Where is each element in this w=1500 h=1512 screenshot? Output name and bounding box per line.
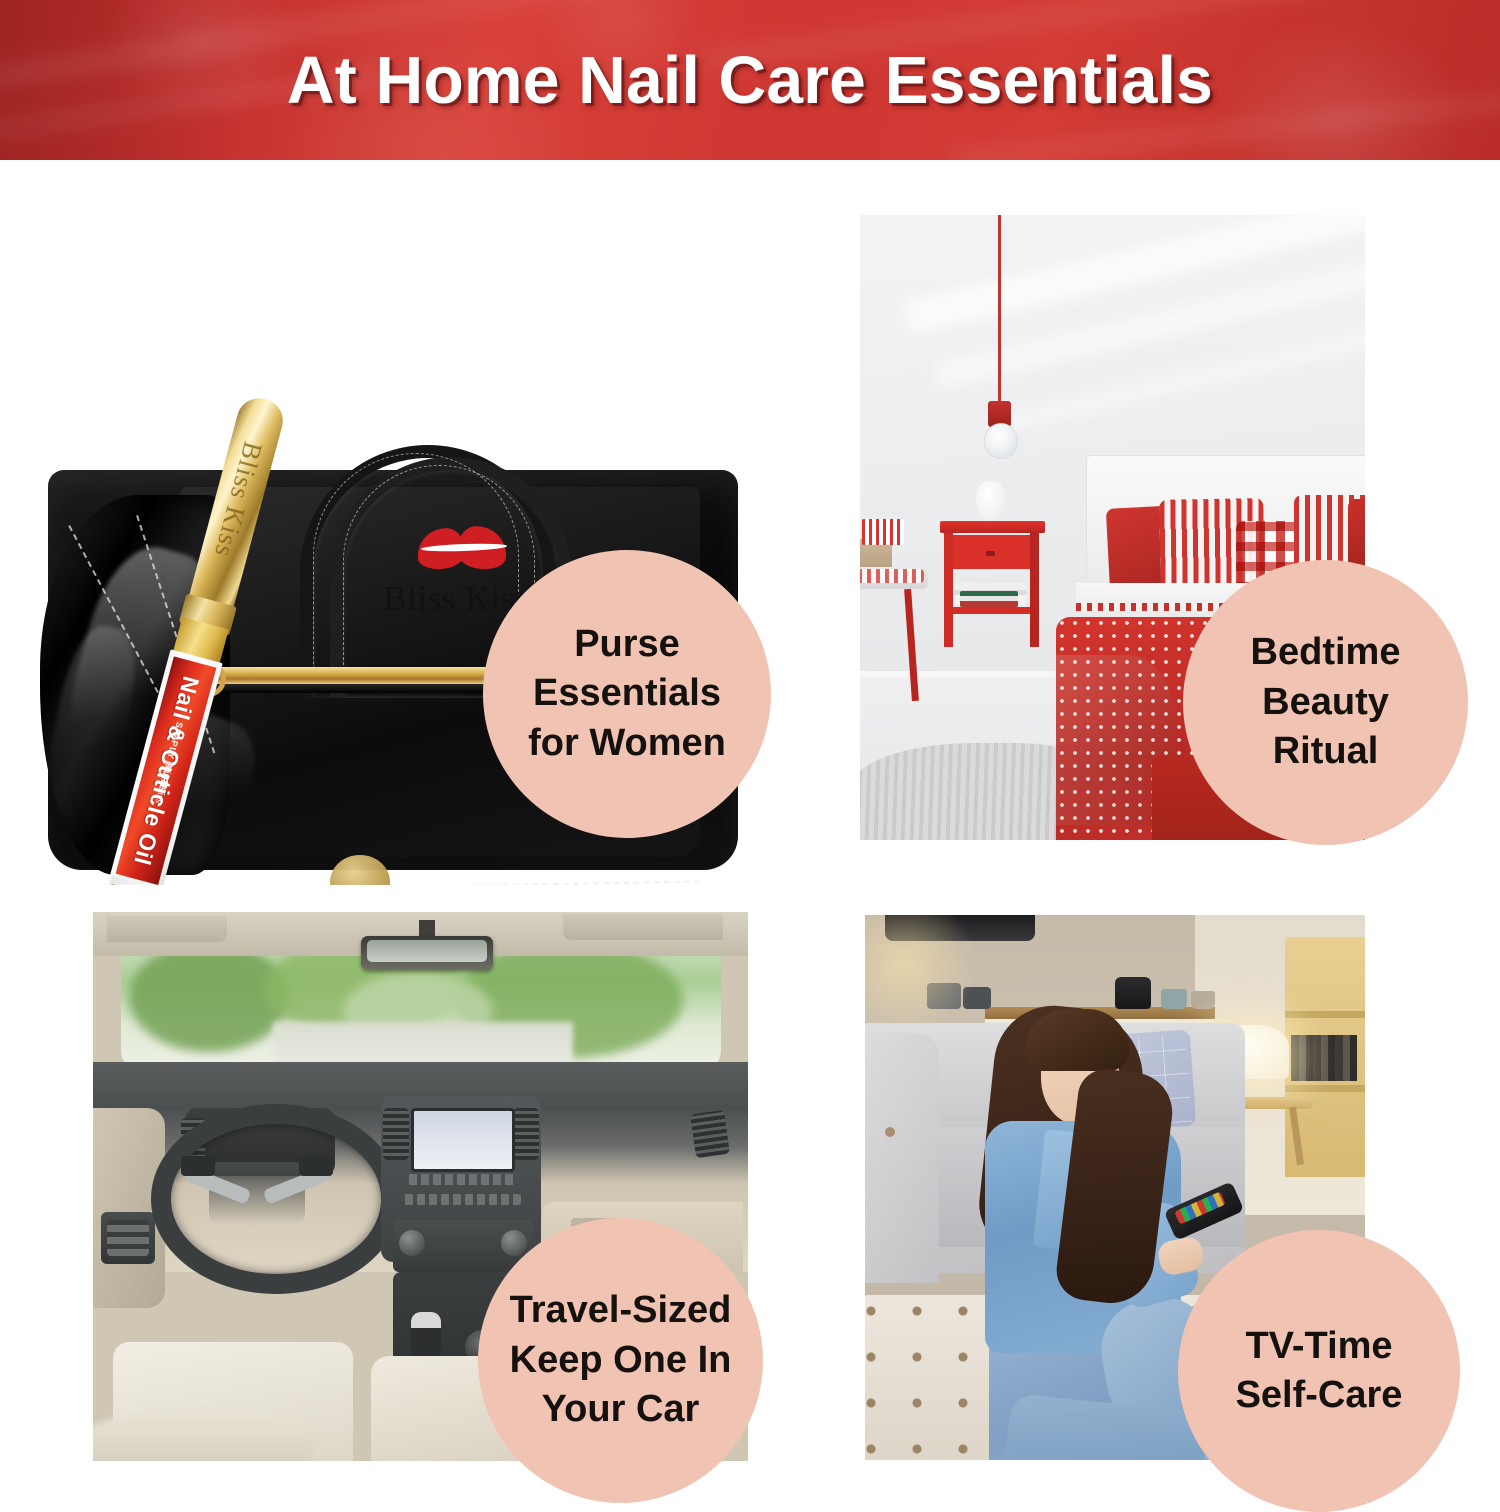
mirror-glass <box>367 940 487 962</box>
badge-line: Self-Care <box>1236 1371 1403 1420</box>
chair-cushion-pattern <box>860 569 924 583</box>
badge-bedroom: Bedtime Beauty Ritual <box>1183 560 1468 845</box>
chair-leg <box>904 589 919 701</box>
stitch-line <box>180 880 700 885</box>
badge-line: Ritual <box>1273 727 1379 776</box>
nightstand-top <box>940 521 1045 533</box>
sun-visor-left <box>107 916 227 942</box>
badge-purse: Purse Essentials for Women <box>483 550 771 838</box>
badge-line: Beauty <box>1262 678 1389 727</box>
seat-foreground <box>93 1412 313 1461</box>
chair-seat <box>860 567 928 589</box>
climate-knob <box>501 1230 527 1256</box>
air-vent <box>513 1108 539 1160</box>
air-vent <box>690 1110 730 1158</box>
shelf-board <box>1285 1011 1365 1018</box>
radio-buttons <box>405 1174 517 1185</box>
badge-line: Keep One In <box>510 1336 732 1385</box>
nightstand-leg <box>944 533 953 647</box>
badge-car: Travel-Sized Keep One In Your Car <box>478 1218 763 1503</box>
badge-line: Bedtime <box>1251 628 1401 677</box>
steering-buttons <box>181 1156 215 1176</box>
hair-fringe <box>1025 1009 1129 1071</box>
product-infographic: At Home Nail Care Essentials <box>0 0 1500 1500</box>
nightstand-shelf <box>944 607 1039 614</box>
badge-line: Purse <box>574 620 680 669</box>
window-switches <box>107 1220 149 1256</box>
pendant-lamp-bulb <box>984 423 1018 459</box>
climate-knob <box>399 1230 425 1256</box>
air-vent <box>383 1108 409 1160</box>
red-nightstand <box>940 521 1045 647</box>
nightstand-knob <box>986 551 995 556</box>
steering-buttons <box>299 1156 333 1176</box>
shelf-board <box>1285 1085 1365 1092</box>
pendant-lamp-cord <box>998 215 1001 403</box>
badge-livingroom: TV-Time Self-Care <box>1178 1230 1460 1512</box>
shelf-books <box>1291 1035 1357 1081</box>
woman-watching-tv <box>963 999 1213 1460</box>
red-lips-icon <box>417 525 509 573</box>
badge-line: for Women <box>528 719 726 768</box>
sun-visor-right <box>563 914 723 940</box>
steering-wheel <box>151 1104 361 1276</box>
page-title: At Home Nail Care Essentials <box>11 0 1489 160</box>
sofa-armrest <box>865 1033 939 1283</box>
badge-line: TV-Time <box>1245 1322 1392 1371</box>
badge-line: Your Car <box>542 1385 700 1434</box>
nightstand-leg <box>1030 533 1039 647</box>
badge-line: Travel-Sized <box>510 1286 732 1335</box>
badge-line: Essentials <box>533 669 721 718</box>
books-on-shelf <box>960 591 1018 607</box>
gift-boxes <box>860 515 912 571</box>
sofa-button <box>885 1127 895 1137</box>
infotainment-screen <box>411 1108 515 1172</box>
radio-buttons <box>401 1194 521 1205</box>
white-vase <box>976 481 1006 523</box>
gift-box-striped <box>862 519 904 545</box>
red-chair <box>860 567 928 707</box>
header-banner: At Home Nail Care Essentials <box>0 0 1500 160</box>
lamp-glow <box>865 915 979 1039</box>
